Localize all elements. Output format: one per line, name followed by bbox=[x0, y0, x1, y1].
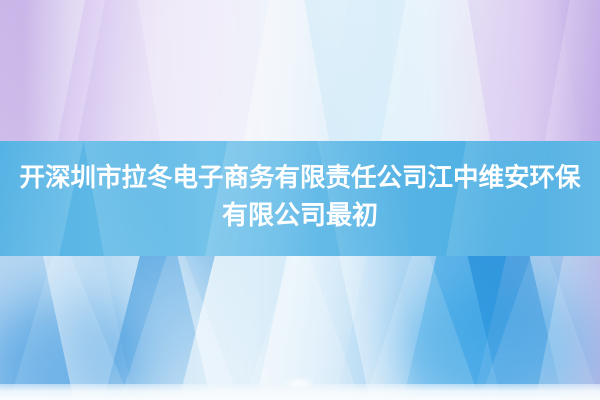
facet-shape bbox=[97, 256, 219, 400]
facet-shape bbox=[336, 256, 434, 400]
glow-accent-right bbox=[400, 276, 590, 400]
banner-title-line-1: 开深圳市拉冬电子商务有限责任公司江中维安环保 bbox=[0, 160, 600, 197]
banner-title: 开深圳市拉冬电子商务有限责任公司江中维安环保 有限公司最初 bbox=[0, 160, 600, 234]
facet-shape bbox=[40, 256, 140, 400]
banner-title-line-2: 有限公司最初 bbox=[0, 197, 600, 234]
facet-shape bbox=[396, 256, 509, 400]
facet-shape bbox=[0, 0, 108, 141]
background-band-bottom bbox=[0, 256, 600, 400]
facet-shape bbox=[540, 0, 600, 141]
chevron-overlay bbox=[0, 256, 600, 400]
bottom-fade-strip bbox=[0, 384, 600, 400]
facet-shape bbox=[174, 256, 282, 400]
facet-shape bbox=[376, 0, 508, 141]
facet-shape bbox=[52, 0, 178, 141]
background-band-top bbox=[0, 0, 600, 141]
facet-shape bbox=[250, 256, 370, 400]
facet-shape bbox=[464, 256, 569, 400]
facet-shape bbox=[530, 256, 600, 400]
facet-shape bbox=[239, 0, 351, 141]
facet-shape bbox=[302, 0, 404, 141]
facet-shape bbox=[135, 0, 274, 141]
facet-shape bbox=[0, 256, 102, 400]
facet-shape bbox=[465, 0, 584, 141]
banner-image: 开深圳市拉冬电子商务有限责任公司江中维安环保 有限公司最初 bbox=[0, 0, 600, 400]
